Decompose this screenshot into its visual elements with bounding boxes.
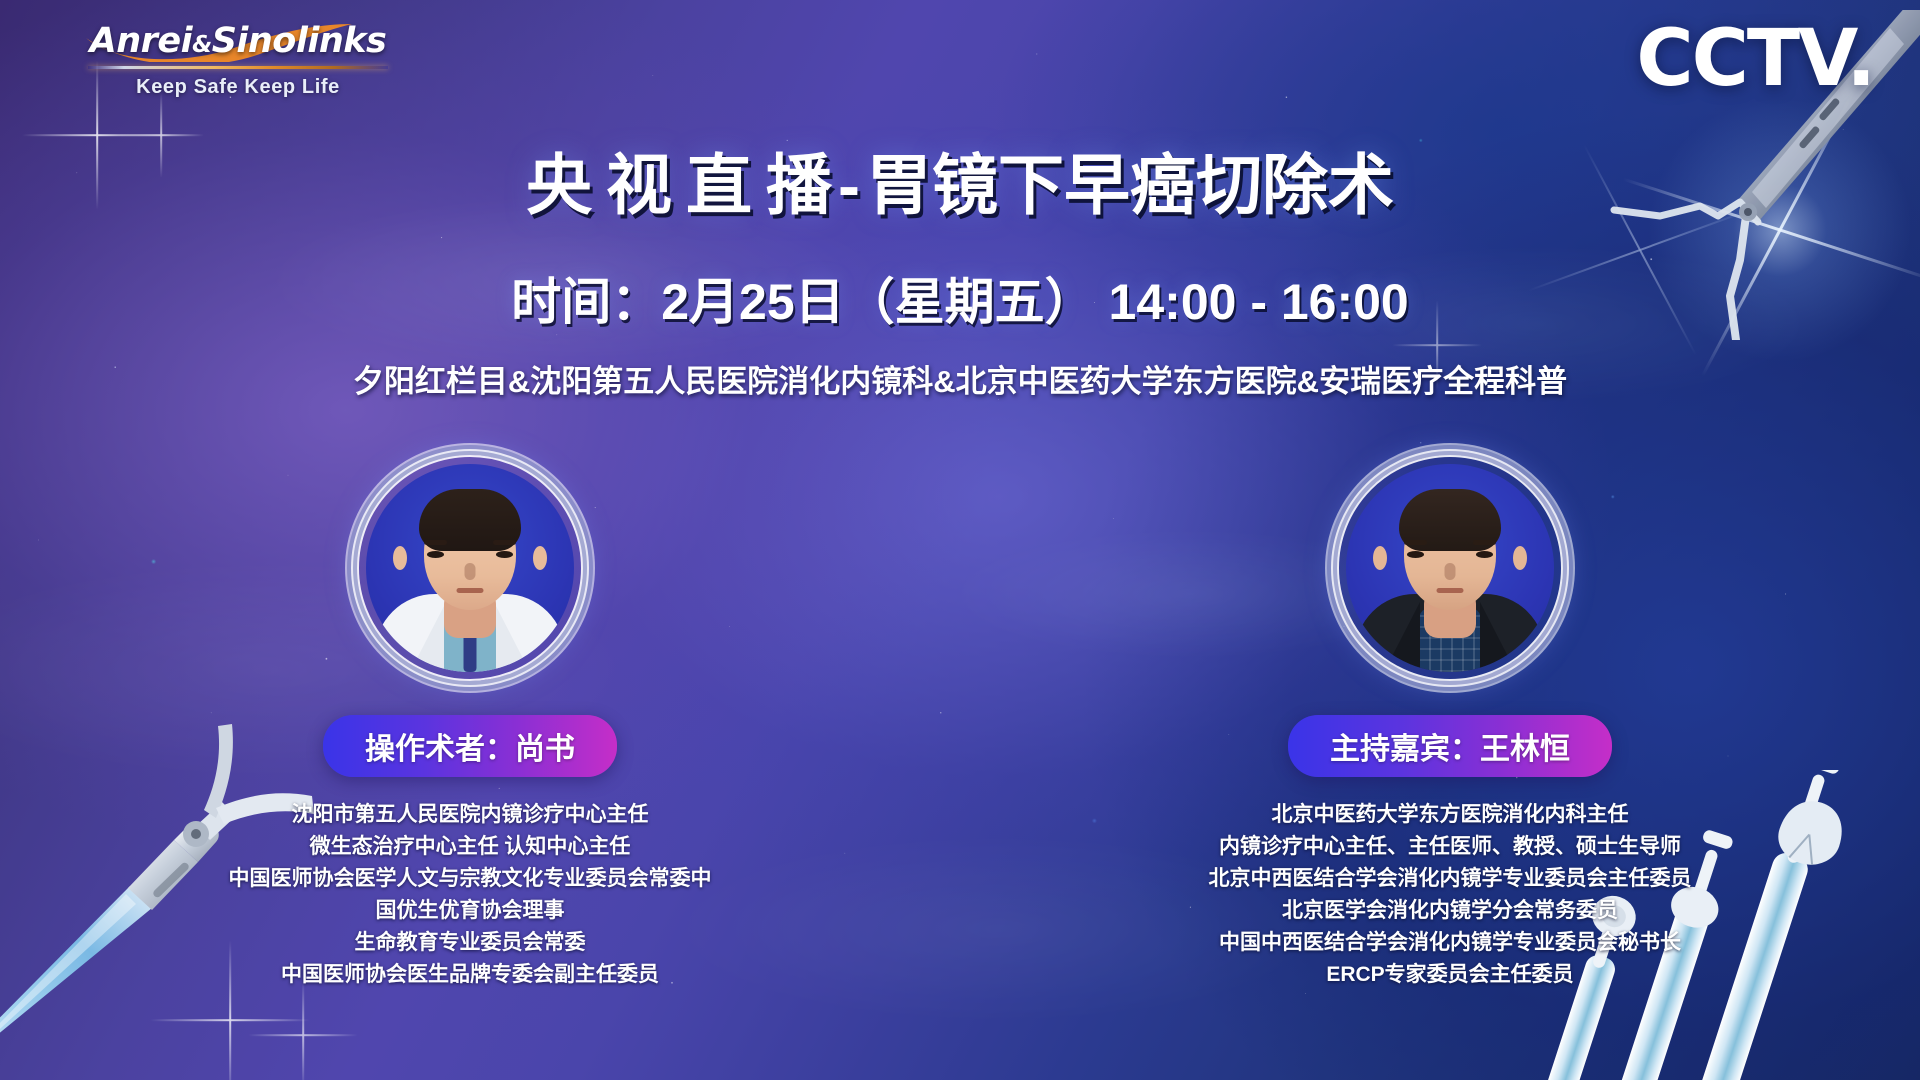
credential-item: 北京中西医结合学会消化内镜学专业委员会主任委员 xyxy=(1209,863,1692,895)
portrait-male-doctor xyxy=(366,464,574,672)
lens-flare-icon xyxy=(1630,80,1920,380)
portrait-mouth xyxy=(1437,588,1464,593)
credential-item: 北京医学会消化内镜学分会常务委员 xyxy=(1209,895,1692,927)
credential-item: ERCP专家委员会主任委员 xyxy=(1209,959,1692,991)
sponsor-name-part1: Anrei xyxy=(90,21,193,61)
avatar xyxy=(357,455,583,681)
portrait-lapel-left xyxy=(410,606,444,672)
credential-item: 生命教育专业委员会常委 xyxy=(229,927,712,959)
portrait-brow-right xyxy=(493,540,516,545)
credential-item: 北京中医药大学东方医院消化内科主任 xyxy=(1209,799,1692,831)
credential-item: 中国中西医结合学会消化内镜学专业委员会秘书长 xyxy=(1209,927,1692,959)
speaker-card-operator: 操作术者：尚书 沈阳市第五人民医院内镜诊疗中心主任 微生态治疗中心主任 认知中心… xyxy=(110,455,830,990)
poster-canvas: Anrei&Sinolinks Keep Safe Keep Life CCTV… xyxy=(0,0,1920,1080)
speaker-credentials-list: 北京中医药大学东方医院消化内科主任 内镜诊疗中心主任、主任医师、教授、硕士生导师… xyxy=(1209,799,1692,990)
page-title-dash: - xyxy=(832,148,866,222)
portrait-ear-right xyxy=(533,546,547,570)
portrait-brow-left xyxy=(424,540,447,545)
portrait-lapel-right xyxy=(496,606,530,672)
portrait-ear-right xyxy=(1513,546,1527,570)
speaker-credentials-list: 沈阳市第五人民医院内镜诊疗中心主任 微生态治疗中心主任 认知中心主任 中国医师协… xyxy=(229,799,712,990)
portrait-eye-left xyxy=(427,551,444,558)
page-title-rest: 胃镜下早癌切除术 xyxy=(866,148,1394,222)
sponsor-name-amp: & xyxy=(192,32,212,58)
sponsor-tagline: Keep Safe Keep Life xyxy=(78,76,398,99)
portrait-nose xyxy=(1445,563,1456,580)
portrait-eye-left xyxy=(1407,551,1424,558)
page-title: 央视直播-胃镜下早癌切除术 xyxy=(0,132,1920,228)
portrait-brow-right xyxy=(1473,540,1496,545)
portrait-male-host xyxy=(1346,464,1554,672)
avatar-disc xyxy=(366,464,574,672)
speakers-section: 操作术者：尚书 沈阳市第五人民医院内镜诊疗中心主任 微生态治疗中心主任 认知中心… xyxy=(0,455,1920,990)
portrait-eye-right xyxy=(496,551,513,558)
sponsor-logo: Anrei&Sinolinks Keep Safe Keep Life xyxy=(78,18,398,99)
avatar-disc xyxy=(1346,464,1554,672)
cctv-logo: CCTV. xyxy=(1636,20,1874,98)
avatar xyxy=(1337,455,1563,681)
sponsor-name: Anrei&Sinolinks xyxy=(78,18,398,68)
portrait-mouth xyxy=(457,588,484,593)
credential-item: 国优生优育协会理事 xyxy=(229,895,712,927)
credential-item: 中国医师协会医学人文与宗教文化专业委员会常委中 xyxy=(229,863,712,895)
portrait-nose xyxy=(465,563,476,580)
sparkle-star-icon xyxy=(248,980,358,1080)
portrait-brow-left xyxy=(1404,540,1427,545)
sponsor-name-part2: Sinolinks xyxy=(212,21,387,61)
speaker-role-badge: 操作术者：尚书 xyxy=(323,715,617,777)
credential-item: 中国医师协会医生品牌专委会副主任委员 xyxy=(229,959,712,991)
schedule-line: 时间：2月25日（星期五） 14:00 - 16:00 xyxy=(0,262,1920,334)
credential-item: 沈阳市第五人民医院内镜诊疗中心主任 xyxy=(229,799,712,831)
sponsor-logo-mark: Anrei&Sinolinks xyxy=(78,18,398,64)
speaker-role-badge: 主持嘉宾：王林恒 xyxy=(1288,715,1612,777)
portrait-ear-left xyxy=(393,546,407,570)
portrait-ear-left xyxy=(1373,546,1387,570)
portrait-lapel-left xyxy=(1384,602,1420,672)
credential-item: 内镜诊疗中心主任、主任医师、教授、硕士生导师 xyxy=(1209,831,1692,863)
organizers-line: 夕阳红栏目&沈阳第五人民医院消化内镜科&北京中医药大学东方医院&安瑞医疗全程科普 xyxy=(0,356,1920,401)
credential-item: 微生态治疗中心主任 认知中心主任 xyxy=(229,831,712,863)
portrait-eye-right xyxy=(1476,551,1493,558)
page-title-lead: 央视直播 xyxy=(526,148,846,222)
speaker-card-host: 主持嘉宾：王林恒 北京中医药大学东方医院消化内科主任 内镜诊疗中心主任、主任医师… xyxy=(1090,455,1810,990)
portrait-lapel-right xyxy=(1480,602,1516,672)
